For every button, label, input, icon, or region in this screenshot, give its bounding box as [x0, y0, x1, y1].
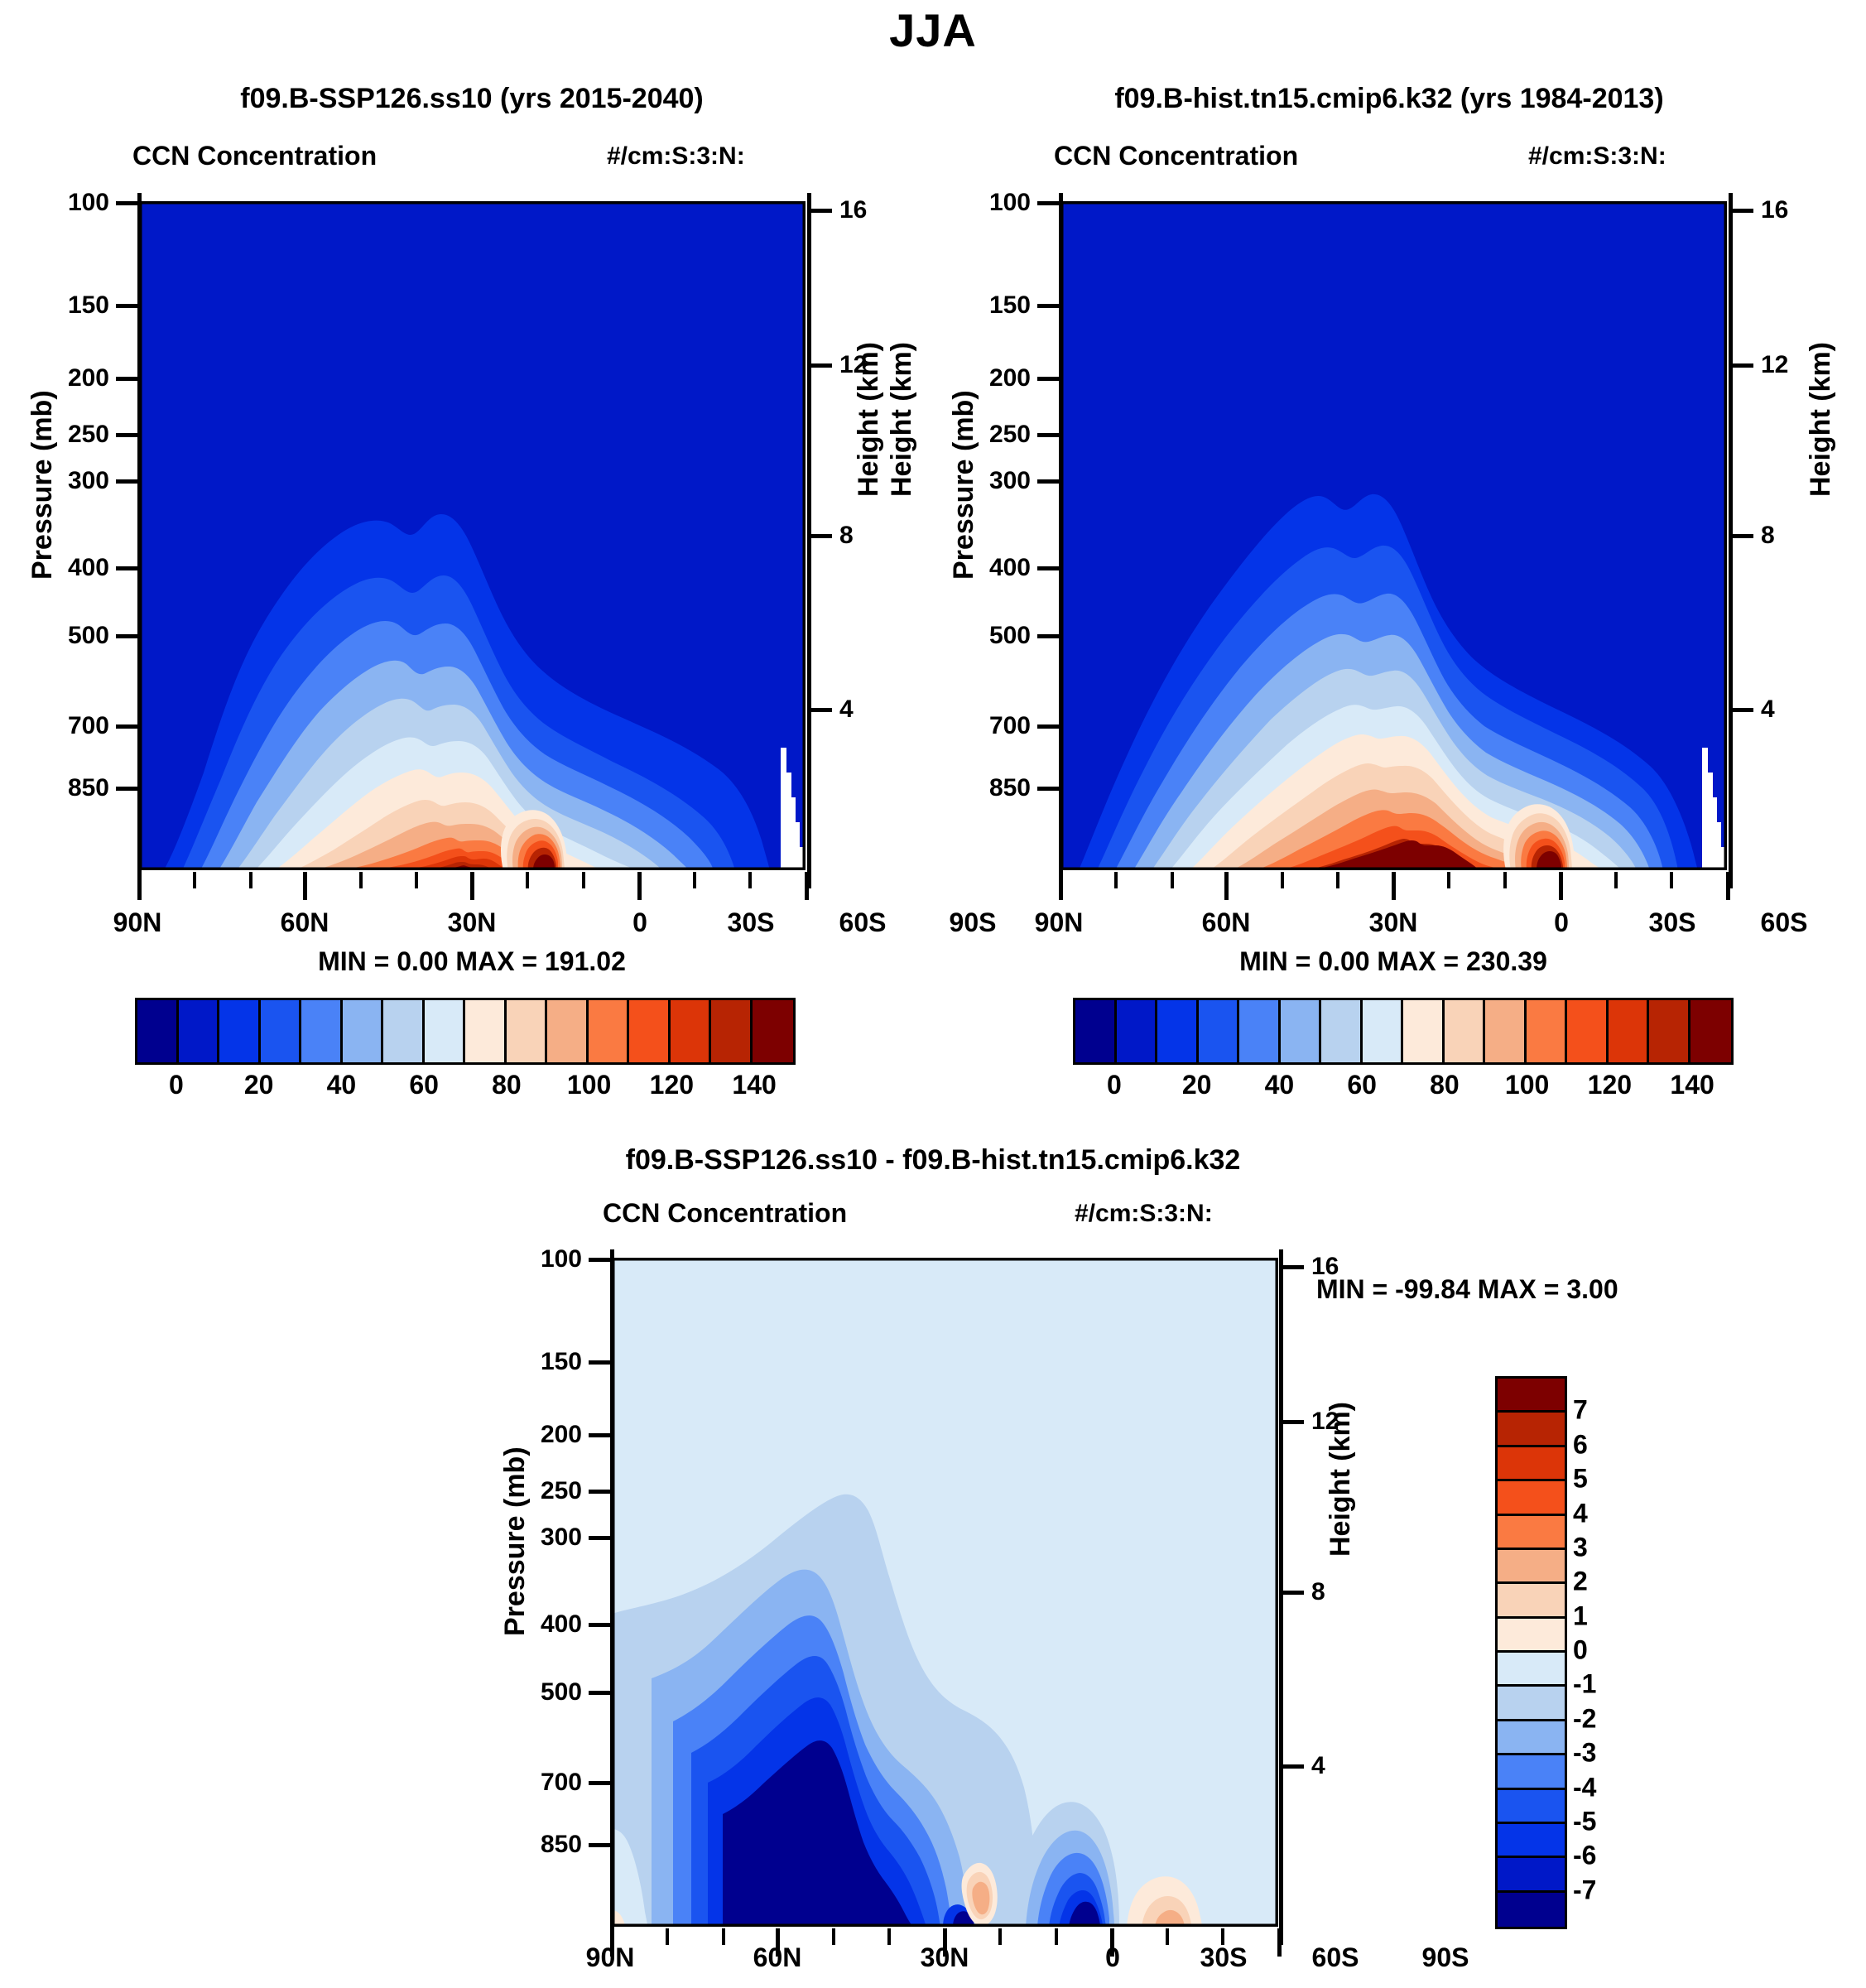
panel-top-left-variable-label: CCN Concentration	[132, 141, 377, 171]
colorbar-tick-label: 40	[327, 1070, 357, 1100]
colorbar-cell[interactable]	[1498, 1413, 1565, 1446]
x-tick-label: 90N	[552, 1942, 668, 1973]
colorbar-tick-label: 140	[732, 1070, 776, 1100]
panel-top-left-colorbar[interactable]	[135, 998, 796, 1065]
colorbar-tick-label: 80	[1430, 1070, 1460, 1100]
colorbar-tick-label: -6	[1573, 1841, 1596, 1871]
y-tick	[116, 634, 139, 638]
y-tick-label: 850	[938, 774, 1031, 802]
colorbar-tick-label: 3	[1573, 1532, 1588, 1562]
panel-top-right-right-spine	[1729, 193, 1733, 888]
panel-bottom-plot-area	[612, 1258, 1278, 1927]
panel-top-left-y2-axis-title: Height (km)	[853, 342, 885, 497]
colorbar-cell[interactable]	[1498, 1893, 1565, 1927]
y-tick	[116, 566, 139, 570]
colorbar-tick-label: 100	[1505, 1070, 1549, 1100]
panel-top-left-colorbar-labels: 020406080100120140	[135, 1070, 791, 1106]
colorbar-cell[interactable]	[179, 1000, 220, 1062]
colorbar-cell[interactable]	[1485, 1000, 1527, 1062]
y2-tick-label: 12	[1761, 351, 1788, 379]
colorbar-tick-label: -5	[1573, 1806, 1596, 1836]
panel-top-left-minmax: MIN = 0.00 MAX = 191.02	[99, 946, 844, 977]
panel-bottom-variable-label: CCN Concentration	[603, 1198, 847, 1229]
colorbar-tick-label: 6	[1573, 1429, 1588, 1460]
y-tick	[116, 377, 139, 381]
panel-bottom-contour-field	[612, 1258, 1278, 1927]
colorbar-cell[interactable]	[1403, 1000, 1445, 1062]
y2-tick-label: 16	[1761, 196, 1788, 224]
colorbar-cell[interactable]	[1498, 1824, 1565, 1858]
y-tick-label: 100	[17, 189, 109, 217]
panel-top-right-variable-label: CCN Concentration	[1054, 141, 1298, 171]
colorbar-cell[interactable]	[1498, 1619, 1565, 1653]
panel-top-left-contour-field	[139, 201, 806, 870]
y2-tick-label: 8	[1761, 522, 1775, 550]
x-tick-label: 90N	[1001, 907, 1117, 938]
x-tick-label: 30N	[1335, 907, 1451, 938]
colorbar-cell[interactable]	[1498, 1550, 1565, 1584]
colorbar-cell[interactable]	[589, 1000, 630, 1062]
colorbar-tick-label: 20	[244, 1070, 274, 1100]
colorbar-tick-label: 60	[409, 1070, 439, 1100]
y2-tick-label: 4	[839, 696, 854, 724]
colorbar-tick-label: 80	[492, 1070, 522, 1100]
colorbar-tick-label: 60	[1347, 1070, 1377, 1100]
panel-top-right-units-label: #/cm:S:3:N:	[1528, 142, 1666, 171]
colorbar-cell[interactable]	[1498, 1790, 1565, 1824]
y-tick-label: 850	[489, 1831, 582, 1859]
colorbar-cell[interactable]	[1445, 1000, 1486, 1062]
colorbar-cell[interactable]	[219, 1000, 261, 1062]
colorbar-tick-label: -1	[1573, 1669, 1596, 1700]
colorbar-cell[interactable]	[1498, 1584, 1565, 1618]
colorbar-tick-label: 4	[1573, 1498, 1588, 1528]
colorbar-cell[interactable]	[1498, 1516, 1565, 1550]
y2-tick-label: 8	[1311, 1578, 1325, 1606]
colorbar-cell[interactable]	[1075, 1000, 1117, 1062]
colorbar-cell[interactable]	[1117, 1000, 1158, 1062]
colorbar-cell[interactable]	[1567, 1000, 1609, 1062]
x-tick-label: 60N	[1168, 907, 1284, 938]
colorbar-tick-label: 100	[567, 1070, 611, 1100]
y-tick	[116, 433, 139, 437]
x-tick-label: 30N	[887, 1942, 1003, 1973]
y-tick-label: 500	[489, 1678, 582, 1706]
panel-top-left-title: f09.B-SSP126.ss10 (yrs 2015-2040)	[33, 83, 911, 115]
colorbar-cell[interactable]	[711, 1000, 753, 1062]
colorbar-cell[interactable]	[1199, 1000, 1240, 1062]
panel-top-left-right-spine	[807, 193, 811, 888]
colorbar-cell[interactable]	[1498, 1721, 1565, 1755]
colorbar-cell[interactable]	[1321, 1000, 1363, 1062]
y-tick-label: 200	[489, 1421, 582, 1449]
y2-tick-label: 16	[839, 196, 867, 224]
colorbar-cell[interactable]	[1498, 1755, 1565, 1789]
colorbar-cell[interactable]	[1498, 1481, 1565, 1515]
colorbar-cell[interactable]	[1363, 1000, 1404, 1062]
colorbar-tick-label: 0	[169, 1070, 184, 1100]
colorbar-cell[interactable]	[1498, 1687, 1565, 1721]
y-tick	[116, 479, 139, 484]
colorbar-cell[interactable]	[1527, 1000, 1568, 1062]
colorbar-tick-label: 7	[1573, 1395, 1588, 1426]
y2-tick	[809, 363, 832, 368]
x-tick-label: 60S	[1277, 1942, 1393, 1973]
colorbar-tick-label: -2	[1573, 1703, 1596, 1734]
colorbar-cell[interactable]	[1239, 1000, 1281, 1062]
colorbar-cell[interactable]	[1281, 1000, 1322, 1062]
colorbar-cell[interactable]	[261, 1000, 302, 1062]
x-tick-label: 0	[582, 907, 698, 938]
colorbar-cell[interactable]	[1498, 1858, 1565, 1892]
panel-top-right-colorbar-labels: 020406080100120140	[1073, 1070, 1729, 1106]
colorbar-cell[interactable]	[547, 1000, 589, 1062]
colorbar-cell[interactable]	[1498, 1379, 1565, 1413]
y-tick-label: 850	[17, 774, 109, 802]
y2-tick	[809, 708, 832, 712]
panel-top-right-y2-axis-title: Height (km)	[1805, 342, 1837, 497]
colorbar-tick-label: 5	[1573, 1464, 1588, 1495]
colorbar-cell[interactable]	[1649, 1000, 1690, 1062]
colorbar-tick-label: 40	[1265, 1070, 1295, 1100]
colorbar-cell[interactable]	[753, 1000, 794, 1062]
panel-top-left-y-axis-title: Pressure (mb)	[26, 390, 59, 580]
colorbar-tick-label: 120	[1588, 1070, 1632, 1100]
colorbar-cell[interactable]	[1498, 1653, 1565, 1687]
colorbar-cell[interactable]	[383, 1000, 425, 1062]
x-tick-label: 90N	[79, 907, 195, 938]
panel-bottom-y-axis-title: Pressure (mb)	[499, 1446, 531, 1636]
x-tick-label: 60N	[247, 907, 363, 938]
x-tick-label: 60N	[719, 1942, 835, 1973]
y-tick-label: 200	[938, 364, 1031, 392]
panel-top-right-contour-field	[1060, 201, 1727, 870]
y-tick-label: 700	[17, 712, 109, 740]
x-tick-label: 30N	[414, 907, 530, 938]
y-tick-label: 100	[489, 1245, 582, 1273]
x-tick-label: 0	[1503, 907, 1619, 938]
panel-bottom-units-label: #/cm:S:3:N:	[1075, 1200, 1213, 1228]
y-tick	[116, 304, 139, 308]
x-tick-label: 30S	[693, 907, 809, 938]
y2-tick-label: 8	[839, 522, 854, 550]
x-tick-label: 90S	[1836, 907, 1866, 938]
colorbar-cell[interactable]	[301, 1000, 343, 1062]
colorbar-tick-label: 0	[1107, 1070, 1122, 1100]
figure-main-title: JJA	[0, 3, 1866, 57]
panel-bottom-colorbar[interactable]	[1495, 1376, 1567, 1929]
y-tick-label: 500	[938, 622, 1031, 650]
y2-tick	[809, 534, 832, 538]
colorbar-cell[interactable]	[507, 1000, 548, 1062]
x-tick-label: 90S	[1387, 1942, 1503, 1973]
x-tick-label: 30S	[1614, 907, 1730, 938]
y-tick	[116, 724, 139, 729]
y-tick-label: 150	[489, 1348, 582, 1376]
panel-bottom-right-spine	[1279, 1249, 1283, 1945]
panel-bottom-minmax: MIN = -99.84 MAX = 3.00	[1316, 1274, 1846, 1305]
panel-top-right-y-axis-title: Pressure (mb)	[948, 390, 980, 580]
colorbar-tick-label: -7	[1573, 1875, 1596, 1905]
panel-top-left-plot-area	[139, 201, 806, 870]
y-tick-label: 700	[489, 1769, 582, 1797]
colorbar-tick-label: 20	[1182, 1070, 1212, 1100]
y-tick-label: 150	[17, 291, 109, 320]
panel-bottom-title: f09.B-SSP126.ss10 - f09.B-hist.tn15.cmip…	[436, 1144, 1430, 1177]
x-tick-label: 60S	[805, 907, 921, 938]
panel-top-right-colorbar[interactable]	[1073, 998, 1734, 1065]
colorbar-tick-label: -4	[1573, 1772, 1596, 1803]
x-tick-label: 30S	[1166, 1942, 1282, 1973]
colorbar-cell[interactable]	[137, 1000, 179, 1062]
colorbar-cell[interactable]	[425, 1000, 466, 1062]
colorbar-tick-label: 120	[650, 1070, 694, 1100]
colorbar-tick-label: -3	[1573, 1738, 1596, 1769]
panel-top-left-y2-axis-title-mid: Height (km)	[886, 342, 918, 497]
colorbar-cell[interactable]	[671, 1000, 712, 1062]
colorbar-cell[interactable]	[629, 1000, 671, 1062]
y-tick-label: 700	[938, 712, 1031, 740]
colorbar-cell[interactable]	[1690, 1000, 1732, 1062]
y-tick	[116, 787, 139, 791]
y-tick	[116, 201, 139, 205]
y-tick-label: 200	[17, 364, 109, 392]
colorbar-cell[interactable]	[1498, 1447, 1565, 1481]
panel-top-left-units-label: #/cm:S:3:N:	[607, 142, 745, 171]
x-tick-label: 60S	[1726, 907, 1842, 938]
colorbar-tick-label: 0	[1573, 1635, 1588, 1666]
colorbar-cell[interactable]	[343, 1000, 384, 1062]
colorbar-cell[interactable]	[1609, 1000, 1650, 1062]
panel-top-right-minmax: MIN = 0.00 MAX = 230.39	[1021, 946, 1766, 977]
panel-top-right-title: f09.B-hist.tn15.cmip6.k32 (yrs 1984-2013…	[934, 83, 1844, 115]
x-tick-label: 0	[1055, 1942, 1171, 1973]
colorbar-cell[interactable]	[1157, 1000, 1199, 1062]
panel-top-right-plot-area	[1060, 201, 1727, 870]
colorbar-tick-label: 2	[1573, 1567, 1588, 1597]
y2-tick-label: 4	[1311, 1752, 1325, 1780]
panel-bottom-y2-axis-title: Height (km)	[1325, 1402, 1357, 1557]
colorbar-tick-label: 140	[1670, 1070, 1714, 1100]
y2-tick	[809, 209, 832, 213]
colorbar-cell[interactable]	[465, 1000, 507, 1062]
y2-tick-label: 4	[1761, 696, 1775, 724]
y-tick-label: 150	[938, 291, 1031, 320]
y-tick-label: 100	[938, 189, 1031, 217]
panel-bottom-colorbar-labels: 76543210-1-2-3-4-5-6-7	[1573, 1376, 1672, 1924]
y-tick-label: 500	[17, 622, 109, 650]
colorbar-tick-label: 1	[1573, 1601, 1588, 1631]
